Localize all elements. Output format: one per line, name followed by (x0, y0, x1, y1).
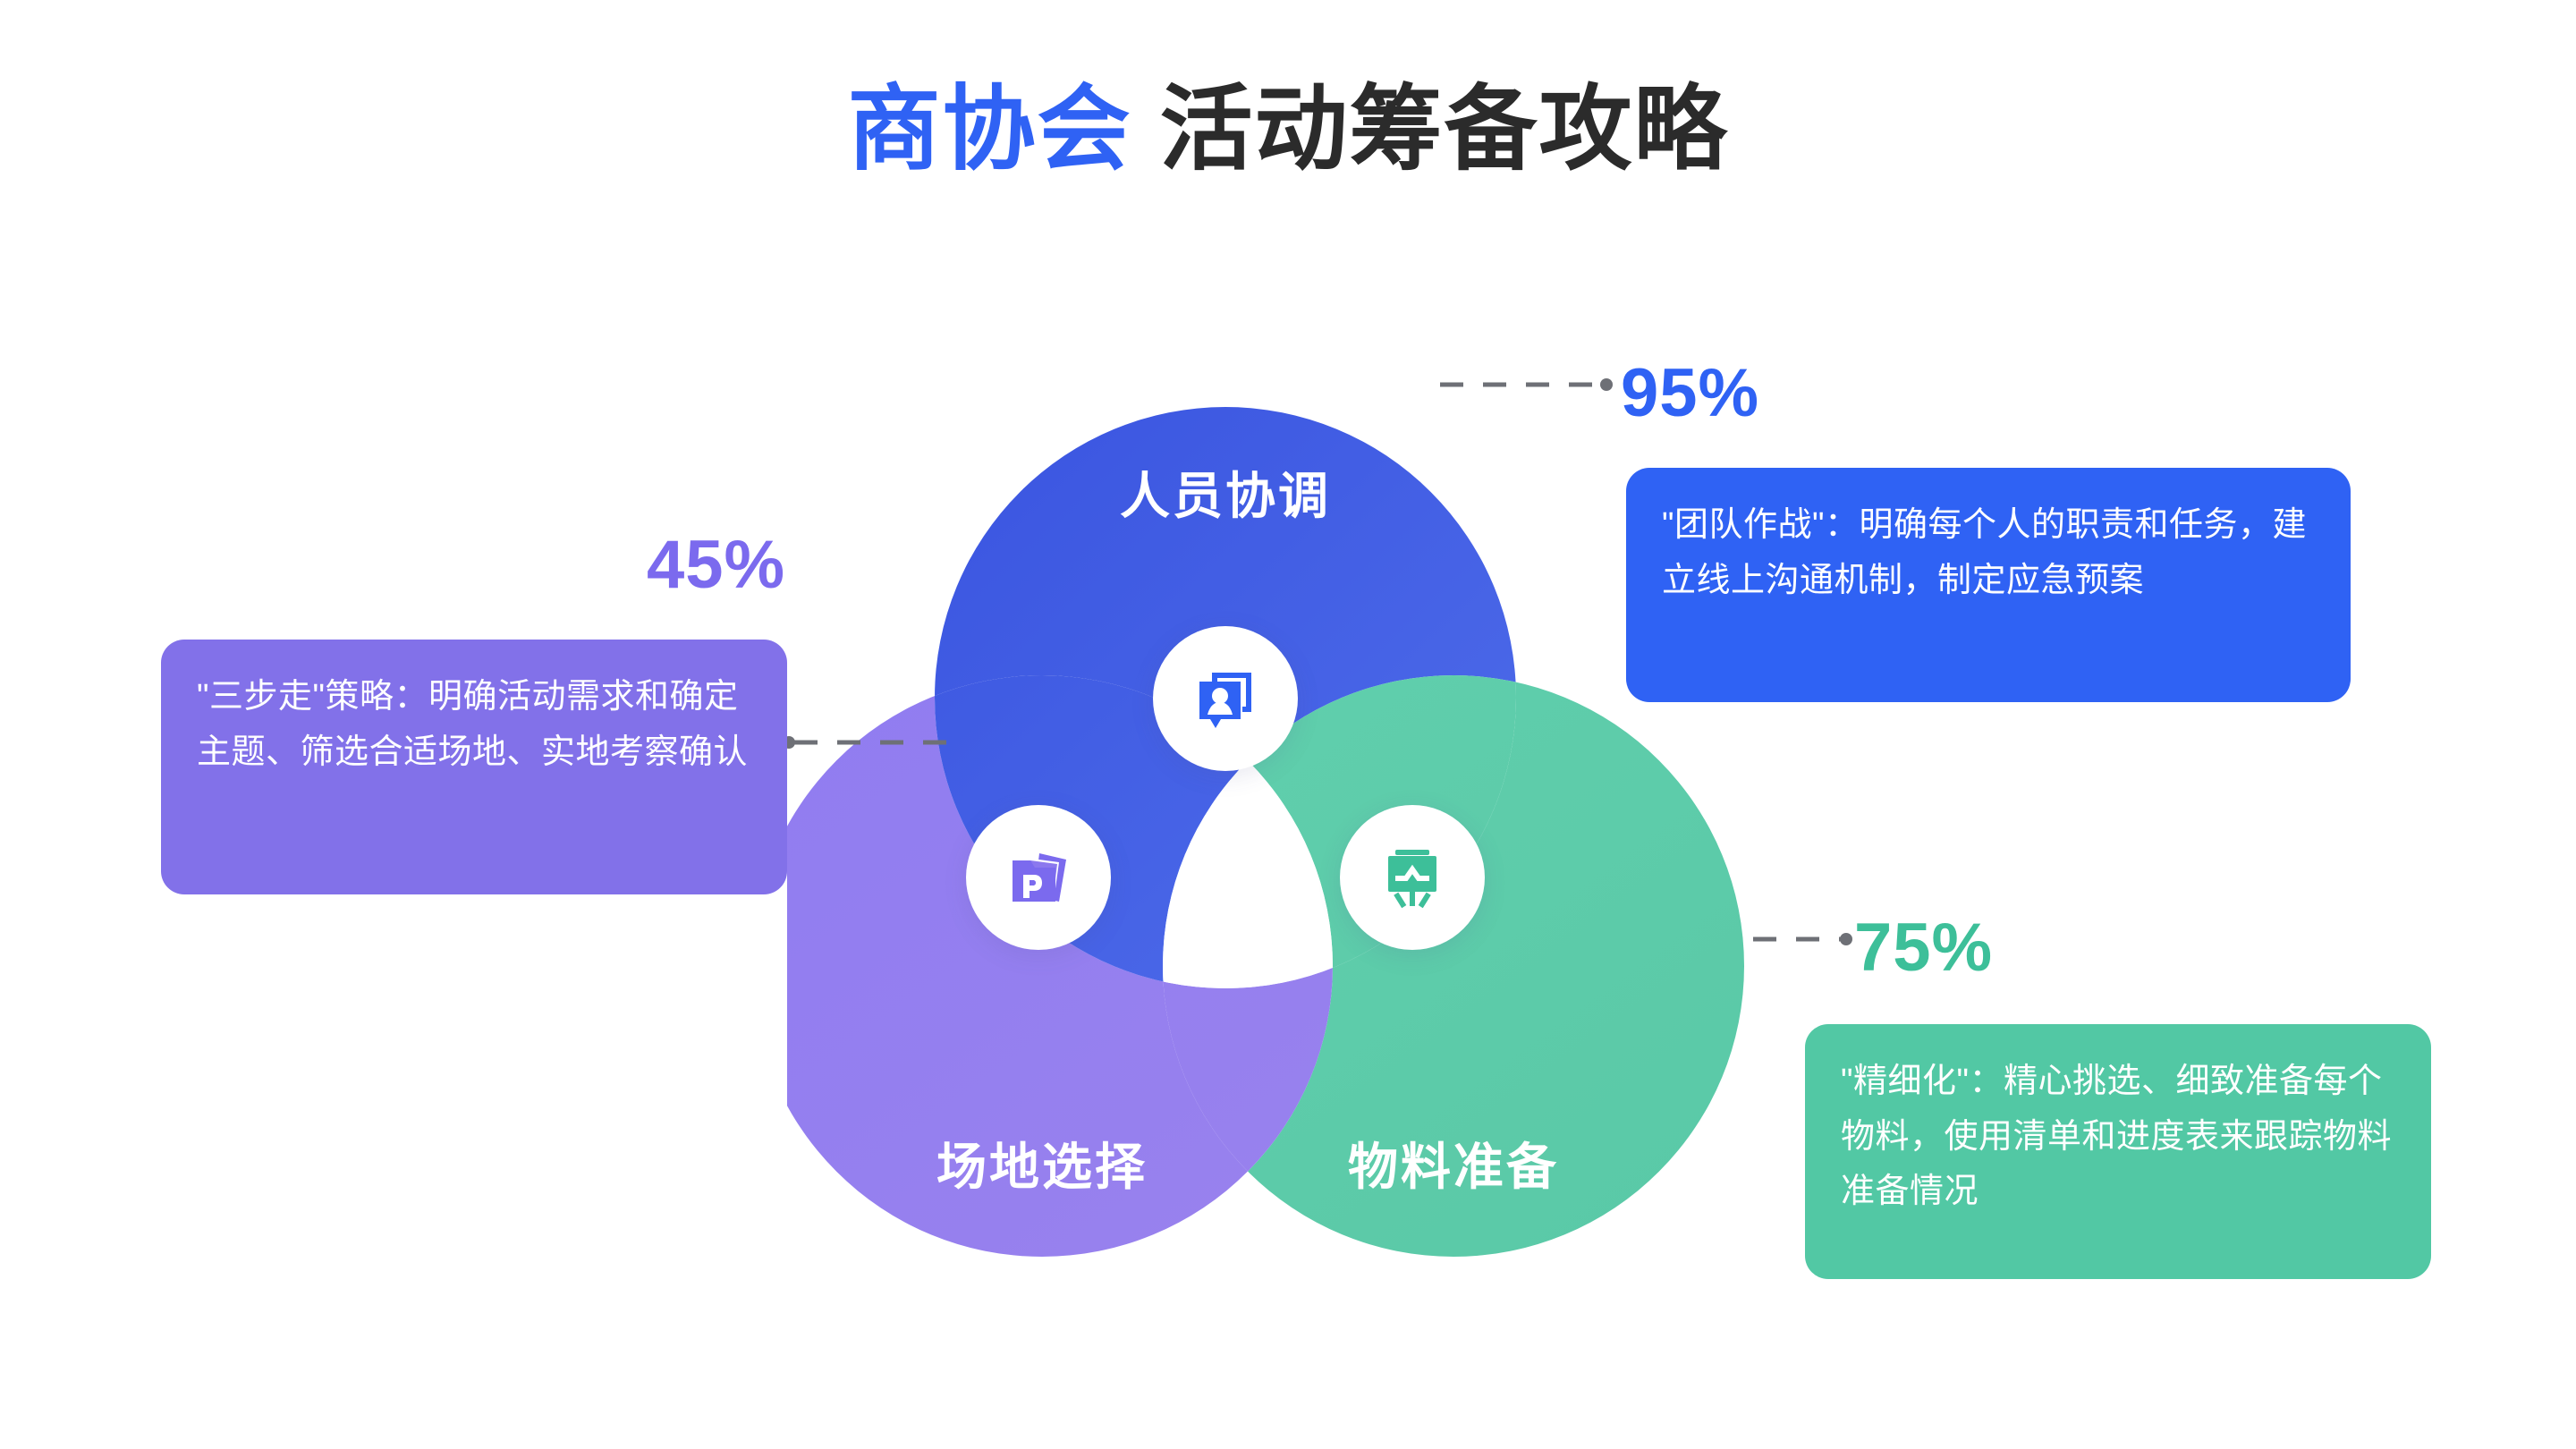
callout-material: "精细化"：精心挑选、细致准备每个物料，使用清单和进度表来跟踪物料准备情况 (1805, 1024, 2431, 1279)
percent-material: 75% (1854, 909, 1993, 987)
icon-disc-people[interactable] (1153, 626, 1298, 771)
venn-label-material: 物料准备 (1348, 1127, 1559, 1199)
page-title-main: 活动筹备攻略 (1159, 78, 1728, 182)
folder-p-icon (1004, 843, 1073, 912)
percent-people: 95% (1621, 354, 1759, 432)
percent-venue: 45% (647, 526, 785, 604)
page-title-accent: 商协会 (848, 78, 1132, 182)
callout-venue: "三步走"策略：明确活动需求和确定主题、筛选合适场地、实地考察确认 (161, 640, 787, 894)
page-title: 商协会 活动筹备攻略 (0, 79, 2576, 181)
page-title-spacer (1132, 78, 1160, 182)
icon-disc-material[interactable] (1340, 805, 1485, 950)
presentation-board-icon (1377, 843, 1447, 912)
user-card-icon (1191, 664, 1260, 733)
icon-disc-venue[interactable] (966, 805, 1111, 950)
callout-people: "团队作战"：明确每个人的职责和任务，建立线上沟通机制，制定应急预案 (1626, 468, 2351, 702)
venn-label-venue: 场地选择 (936, 1127, 1148, 1199)
connector-venue (769, 716, 1038, 769)
venn-label-people: 人员协调 (1120, 456, 1331, 529)
